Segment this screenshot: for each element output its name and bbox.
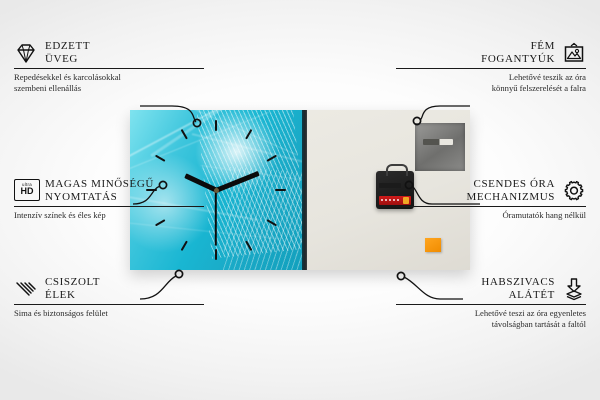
divider — [14, 206, 204, 207]
feature-metal-handles: FÉMFOGANTYÚK Lehetővé teszik az órakönny… — [396, 40, 586, 93]
feature-header: CSENDES ÓRAMECHANIZMUS — [396, 178, 586, 203]
minute-hand — [215, 171, 259, 192]
feature-foam-pad: HABSZIVACSALÁTÉT Lehetővé teszi az óra e… — [396, 276, 586, 329]
clock-tick — [245, 129, 252, 140]
feature-header: EDZETTÜVEG — [14, 40, 204, 65]
feature-description: Lehetővé teszik az órakönnyű felszerelés… — [396, 72, 586, 93]
second-hand — [215, 190, 217, 246]
feature-title: EDZETTÜVEG — [45, 40, 90, 65]
feature-title: HABSZIVACSALÁTÉT — [481, 276, 555, 301]
feature-title: CSENDES ÓRAMECHANIZMUS — [467, 178, 556, 203]
feature-description: Lehetővé teszi az óra egyenletestávolság… — [396, 308, 586, 329]
hanging-frame-icon — [562, 41, 586, 65]
feature-title: FÉMFOGANTYÚK — [481, 40, 555, 65]
feature-header: FÉMFOGANTYÚK — [396, 40, 586, 65]
clock-tick — [215, 120, 217, 131]
clock-tick — [180, 129, 187, 140]
infographic-canvas: EDZETTÜVEG Repedésekkel és karcolásokkal… — [0, 0, 600, 400]
clock-tick — [180, 241, 187, 252]
hanger-slot — [423, 139, 453, 145]
clock-tick — [245, 241, 252, 252]
feature-tempered-glass: EDZETTÜVEG Repedésekkel és karcolásokkal… — [14, 40, 204, 93]
divider — [14, 304, 204, 305]
foam-spacer-pad — [425, 238, 441, 252]
clock-tick — [275, 189, 286, 191]
feature-title: MAGAS MINŐSÉGŰNYOMTATÁS — [45, 178, 154, 203]
ultra-hd-icon: ultra HD — [14, 179, 38, 203]
feature-title: CSISZOLTÉLEK — [45, 276, 100, 301]
clock-center-hub — [214, 188, 219, 193]
clock-tick — [267, 219, 278, 226]
feature-header: HABSZIVACSALÁTÉT — [396, 276, 586, 301]
polished-edges-icon — [14, 277, 38, 301]
feature-description: Óramutatók hang nélkül — [396, 210, 586, 221]
divider — [396, 206, 586, 207]
feature-description: Repedésekkel és karcolásokkalszembeni el… — [14, 72, 204, 93]
divider — [14, 68, 204, 69]
metal-hanger — [415, 123, 465, 171]
divider — [396, 68, 586, 69]
divider — [396, 304, 586, 305]
feature-high-quality-print: ultra HD MAGAS MINŐSÉGŰNYOMTATÁS Intenzí… — [14, 178, 204, 221]
feature-header: CSISZOLTÉLEK — [14, 276, 204, 301]
clock-tick — [155, 154, 166, 161]
clock-tick — [267, 154, 278, 161]
gear-icon — [562, 179, 586, 203]
foam-pad-arrow-icon — [562, 277, 586, 301]
clock-tick — [215, 249, 217, 260]
diamond-icon — [14, 41, 38, 65]
feature-polished-edges: CSISZOLTÉLEK Sima és biztonságos felület — [14, 276, 204, 319]
feature-description: Intenzív színek és éles kép — [14, 210, 204, 221]
feature-description: Sima és biztonságos felület — [14, 308, 204, 319]
mechanism-hanger-loop — [386, 164, 408, 176]
feature-quiet-mechanism: CSENDES ÓRAMECHANIZMUS Óramutatók hang n… — [396, 178, 586, 221]
feature-header: ultra HD MAGAS MINŐSÉGŰNYOMTATÁS — [14, 178, 204, 203]
